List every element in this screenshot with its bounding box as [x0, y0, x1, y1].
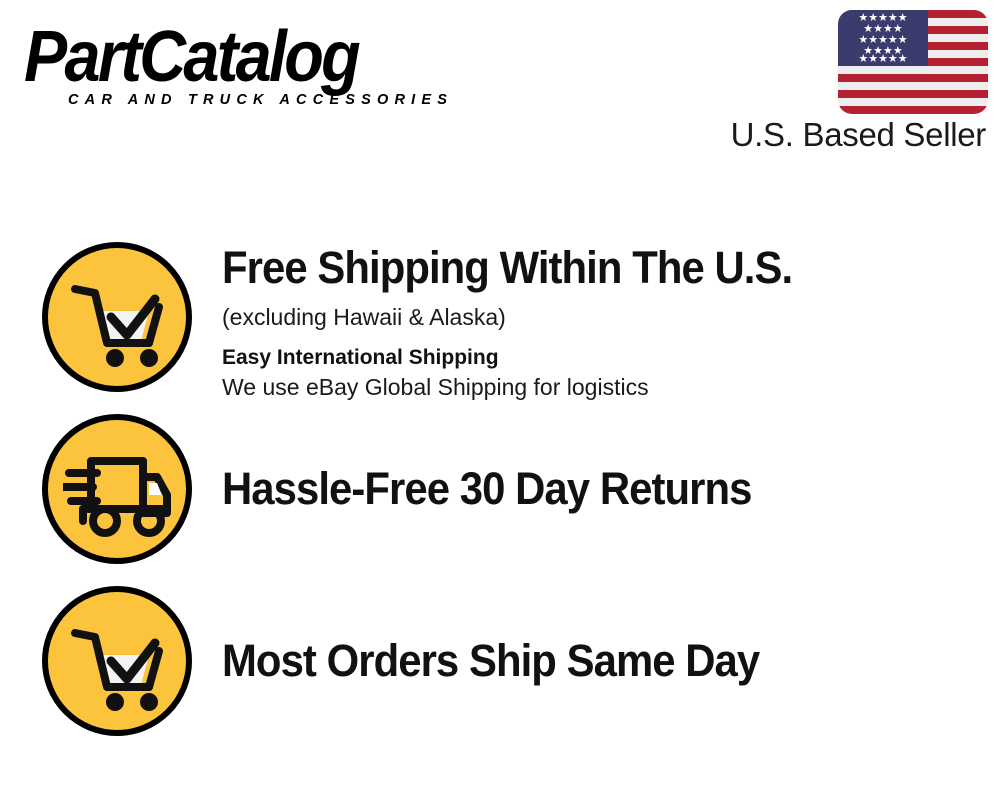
flag-star-row: ★★★★★	[838, 54, 928, 65]
feature-headline: Hassle-Free 30 Day Returns	[222, 463, 751, 515]
feature-text-free-shipping: Free Shipping Within The U.S. (excluding…	[222, 242, 982, 402]
flag-stripe	[838, 90, 988, 98]
brand-tagline: CAR AND TRUCK ACCESSORIES	[68, 92, 453, 108]
feature-text-returns: Hassle-Free 30 Day Returns	[222, 414, 791, 564]
us-flag-icon: ★★★★★ ★★★★ ★★★★★ ★★★★ ★★★★★	[838, 10, 988, 114]
us-flag-graphic: ★★★★★ ★★★★ ★★★★★ ★★★★ ★★★★★	[838, 10, 988, 114]
feature-sub-heading: Easy International Shipping	[222, 344, 982, 372]
feature-sub-detail: We use eBay Global Shipping for logistic…	[222, 372, 982, 402]
feature-headline: Free Shipping Within The U.S.	[222, 242, 929, 294]
feature-row-same-day: Most Orders Ship Same Day	[0, 586, 1000, 746]
partcatalog-logo: PartCatalog CAR AND TRUCK ACCESSORIES	[24, 18, 504, 118]
shipping-info-banner: PartCatalog CAR AND TRUCK ACCESSORIES ★★…	[0, 0, 1000, 800]
banner-header: PartCatalog CAR AND TRUCK ACCESSORIES ★★…	[0, 0, 1000, 170]
flag-stripe	[838, 74, 988, 82]
shopping-cart-check-icon	[42, 242, 192, 392]
feature-row-returns: Hassle-Free 30 Day Returns	[0, 414, 1000, 574]
feature-subline: (excluding Hawaii & Alaska)	[222, 302, 982, 332]
us-based-seller-label: U.S. Based Seller	[731, 116, 986, 154]
flag-stripe	[838, 106, 988, 114]
delivery-truck-icon	[42, 414, 192, 564]
feature-text-same-day: Most Orders Ship Same Day	[222, 586, 800, 736]
feature-headline: Most Orders Ship Same Day	[222, 635, 759, 687]
brand-wordmark: PartCatalog	[24, 18, 358, 96]
shopping-cart-check-icon	[42, 586, 192, 736]
flag-canton: ★★★★★ ★★★★ ★★★★★ ★★★★ ★★★★★	[838, 10, 928, 66]
feature-row-free-shipping: Free Shipping Within The U.S. (excluding…	[0, 242, 1000, 402]
